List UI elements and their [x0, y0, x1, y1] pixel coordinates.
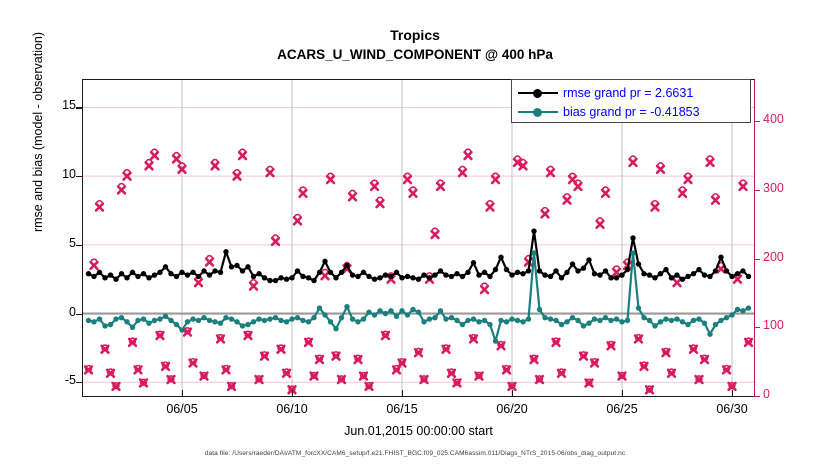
data-file-footer: data file: /Users/raeder/DAI/ATM_forcXX/…	[0, 450, 830, 457]
tick-mark	[76, 107, 82, 108]
axis-tick-label-right: 300	[763, 181, 784, 195]
chart-subtitle: ACARS_U_WIND_COMPONENT @ 400 hPa	[0, 45, 830, 64]
y-axis-label-left: rmse and bias (model - observation)	[31, 0, 45, 412]
tick-mark	[76, 176, 82, 177]
tick-mark	[402, 390, 403, 396]
axis-tick-label: -5	[42, 373, 76, 387]
tick-mark	[754, 190, 760, 191]
tick-mark	[76, 314, 82, 315]
chart-title-block: Tropics ACARS_U_WIND_COMPONENT @ 400 hPa	[0, 26, 830, 64]
tick-mark	[754, 259, 760, 260]
axis-tick-label: 10	[42, 167, 76, 181]
page-title: Tropics	[0, 26, 830, 45]
x-axis-label: Jun.01,2015 00:00:00 start	[82, 424, 755, 438]
axis-tick-label-x: 06/20	[482, 402, 542, 416]
axis-tick-label-right: 0	[763, 387, 770, 401]
legend-marker-bias	[518, 106, 558, 118]
axis-tick-label-x: 06/05	[152, 402, 212, 416]
plot-canvas	[83, 80, 754, 396]
tick-mark	[292, 390, 293, 396]
tick-mark	[754, 327, 760, 328]
tick-mark	[754, 121, 760, 122]
axis-tick-label-right: 400	[763, 112, 784, 126]
axis-tick-label: 5	[42, 236, 76, 250]
axis-tick-label-x: 06/15	[372, 402, 432, 416]
axis-tick-label-right: 200	[763, 250, 784, 264]
axis-tick-label: 15	[42, 98, 76, 112]
tick-mark	[512, 390, 513, 396]
legend-label-bias: bias grand pr = -0.41853	[563, 105, 700, 119]
tick-mark	[76, 382, 82, 383]
axis-tick-label-right: 100	[763, 318, 784, 332]
tick-mark	[622, 390, 623, 396]
tick-mark	[182, 390, 183, 396]
legend-item-rmse: rmse grand pr = 2.6631	[518, 83, 744, 102]
tick-mark	[732, 390, 733, 396]
chart-screenshot: Tropics ACARS_U_WIND_COMPONENT @ 400 hPa…	[0, 0, 830, 470]
axis-tick-label: 0	[42, 305, 76, 319]
axis-tick-label-x: 06/30	[702, 402, 762, 416]
plot-area	[82, 79, 755, 397]
legend-item-bias: bias grand pr = -0.41853	[518, 102, 744, 121]
axis-tick-label-x: 06/10	[262, 402, 322, 416]
legend-label-rmse: rmse grand pr = 2.6631	[563, 86, 693, 100]
legend-marker-rmse	[518, 87, 558, 99]
chart-legend: rmse grand pr = 2.6631 bias grand pr = -…	[511, 79, 751, 123]
axis-tick-label-x: 06/25	[592, 402, 652, 416]
tick-mark	[754, 396, 760, 397]
tick-mark	[76, 245, 82, 246]
